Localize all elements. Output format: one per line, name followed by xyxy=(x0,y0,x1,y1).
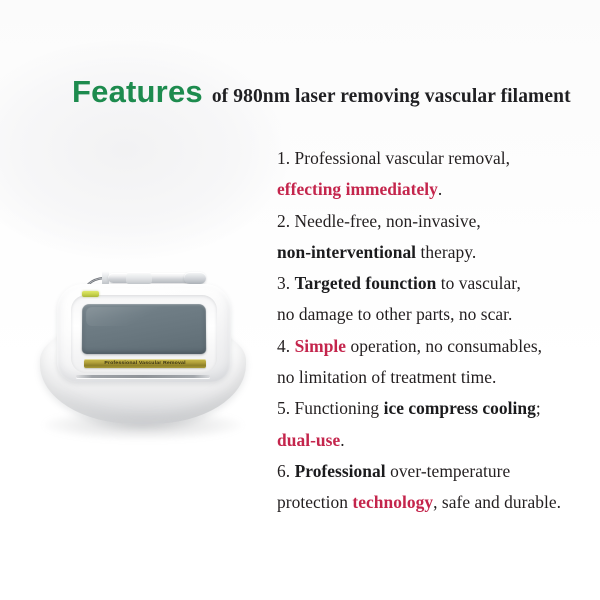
feature-item-2-line-2-run-2: therapy. xyxy=(416,242,476,262)
feature-item-4-line-1-run-3: operation, no consumables, xyxy=(346,336,542,356)
feature-item-6-line-1-run-3: over-temperature xyxy=(386,461,511,481)
device-nameplate-text: Professional Vascular Removal xyxy=(84,359,206,367)
feature-item-6-line-1: 6. Professional over-temperature xyxy=(277,456,593,487)
feature-item-5-line-1-run-1: Functioning xyxy=(290,398,383,418)
feature-item-5-line-1: 5. Functioning ice compress cooling; xyxy=(277,393,593,424)
feature-item-2-line-1-run-1: Needle-free, non-invasive, xyxy=(290,211,481,231)
feature-item-3-line-1-run-3: to vascular, xyxy=(436,273,520,293)
feature-item-1-line-1-run-1: Professional vascular removal, xyxy=(290,148,510,168)
device-touchscreen xyxy=(82,304,206,354)
feature-item-2-line-2: non-interventional therapy. xyxy=(277,237,593,268)
feature-item-3-line-1: 3. Targeted founction to vascular, xyxy=(277,268,593,299)
device-nameplate: Professional Vascular Removal xyxy=(84,359,206,368)
feature-item-6-line-2-run-1: protection xyxy=(277,492,352,512)
feature-item-4-line-1-run-2-highlight: Simple xyxy=(295,336,347,356)
feature-item-3-number: 3. xyxy=(277,273,290,293)
feature-item-4-line-2: no limitation of treatment time. xyxy=(277,362,593,393)
feature-item-3-line-1-run-2: Targeted founction xyxy=(295,273,437,293)
feature-list: 1. Professional vascular removal,effecti… xyxy=(277,143,593,519)
page-title: Featuresof 980nm laser removing vascular… xyxy=(72,76,571,107)
feature-item-6-line-2-run-3: , safe and durable. xyxy=(433,492,561,512)
feature-item-5-line-2-run-1-highlight: dual-use xyxy=(277,430,340,450)
feature-slide: Featuresof 980nm laser removing vascular… xyxy=(0,0,600,600)
feature-item-4-number: 4. xyxy=(277,336,290,356)
handpiece-tip xyxy=(184,272,206,284)
product-image-laser-device: Professional Vascular Removal xyxy=(24,262,268,462)
feature-item-5-line-1-run-2: ice compress cooling xyxy=(384,398,536,418)
device-base-vent-slot xyxy=(76,375,210,378)
feature-item-5-line-2-run-2: . xyxy=(340,430,344,450)
handpiece-grip xyxy=(126,272,152,284)
feature-item-2-line-1: 2. Needle-free, non-invasive, xyxy=(277,206,593,237)
feature-item-5-line-1-run-3: ; xyxy=(536,398,541,418)
feature-item-1-line-2-run-1-highlight: effecting immediately xyxy=(277,179,438,199)
feature-item-1-line-2-run-2: . xyxy=(438,179,442,199)
feature-item-1-number: 1. xyxy=(277,148,290,168)
feature-item-1-line-2: effecting immediately. xyxy=(277,174,593,205)
feature-item-1-line-1: 1. Professional vascular removal, xyxy=(277,143,593,174)
background-vignette xyxy=(0,40,290,260)
feature-item-6-line-1-run-2: Professional xyxy=(295,461,386,481)
feature-item-2-line-2-run-1: non-interventional xyxy=(277,242,416,262)
feature-item-2-number: 2. xyxy=(277,211,290,231)
feature-item-6-number: 6. xyxy=(277,461,290,481)
device-indicator-badge xyxy=(82,291,99,297)
feature-item-6-line-2-run-2-highlight: technology xyxy=(352,492,433,512)
feature-item-5-line-2: dual-use. xyxy=(277,425,593,456)
feature-item-5-number: 5. xyxy=(277,398,290,418)
feature-item-6-line-2: protection technology, safe and durable. xyxy=(277,487,593,518)
feature-item-3-line-2: no damage to other parts, no scar. xyxy=(277,299,593,330)
feature-item-4-line-2-run-1: no limitation of treatment time. xyxy=(277,367,496,387)
page-title-subtitle: of 980nm laser removing vascular filamen… xyxy=(212,86,571,107)
feature-item-3-line-2-run-1: no damage to other parts, no scar. xyxy=(277,304,512,324)
page-title-main: Features xyxy=(72,74,203,109)
feature-item-4-line-1: 4. Simple operation, no consumables, xyxy=(277,331,593,362)
